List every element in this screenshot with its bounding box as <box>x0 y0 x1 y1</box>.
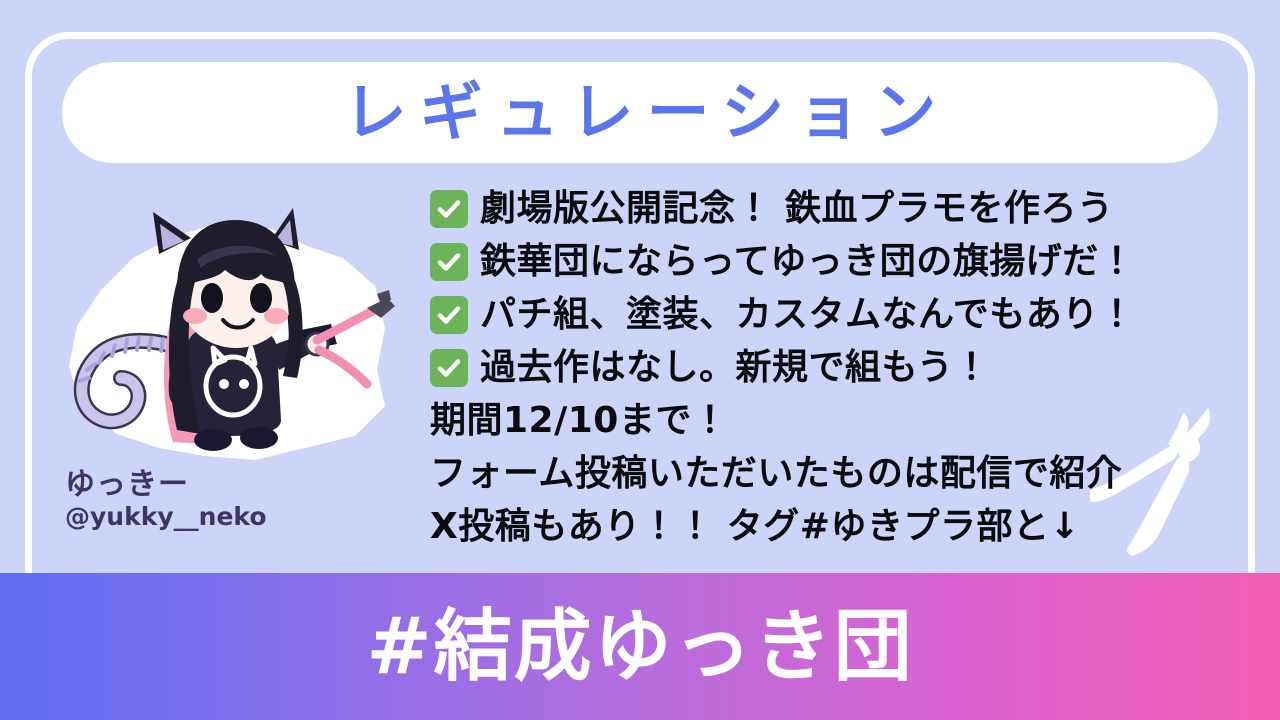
note-label: X投稿もあり！！ タグ#ゆきプラ部と↓ <box>430 509 1080 545</box>
note-label: フォーム投稿いただいたものは配信で紹介 <box>430 456 1122 492</box>
rule-label: パチ組、塗装、カスタムなんでもあり！ <box>480 297 1135 333</box>
profile-block: ゆっきー @yukky__neko <box>65 468 395 532</box>
avatar <box>55 198 405 483</box>
green-check-icon <box>430 190 468 228</box>
note-line: 期間12/10まで！ <box>430 394 1170 447</box>
green-check-icon <box>430 296 468 334</box>
rule-label: 鉄華団にならってゆっき団の旗揚げだ！ <box>480 244 1135 280</box>
list-item: 過去作はなし。新規で組もう！ <box>430 341 1170 394</box>
hashtag-label: #結成ゆっき団 <box>366 608 913 686</box>
title-banner: レギュレーション <box>62 62 1218 163</box>
profile-handle: @yukky__neko <box>65 503 395 532</box>
note-line: フォーム投稿いただいたものは配信で紹介 <box>430 447 1170 500</box>
page-title: レギュレーション <box>331 81 949 144</box>
green-check-icon <box>430 243 468 281</box>
list-item: パチ組、塗装、カスタムなんでもあり！ <box>430 288 1170 341</box>
rule-label: 劇場版公開記念！ 鉄血プラモを作ろう <box>480 191 1114 227</box>
rules-list: 劇場版公開記念！ 鉄血プラモを作ろう 鉄華団にならってゆっき団の旗揚げだ！ パチ… <box>430 182 1170 553</box>
profile-display-name: ゆっきー <box>65 468 395 501</box>
list-item: 鉄華団にならってゆっき団の旗揚げだ！ <box>430 235 1170 288</box>
hashtag-banner: #結成ゆっき団 <box>0 573 1280 720</box>
rule-label: 過去作はなし。新規で組もう！ <box>480 350 990 386</box>
note-line: X投稿もあり！！ タグ#ゆきプラ部と↓ <box>430 500 1170 553</box>
regulation-card: レギュレーション <box>0 0 1280 720</box>
note-label: 期間12/10まで！ <box>430 403 728 439</box>
list-item: 劇場版公開記念！ 鉄血プラモを作ろう <box>430 182 1170 235</box>
green-check-icon <box>430 349 468 387</box>
